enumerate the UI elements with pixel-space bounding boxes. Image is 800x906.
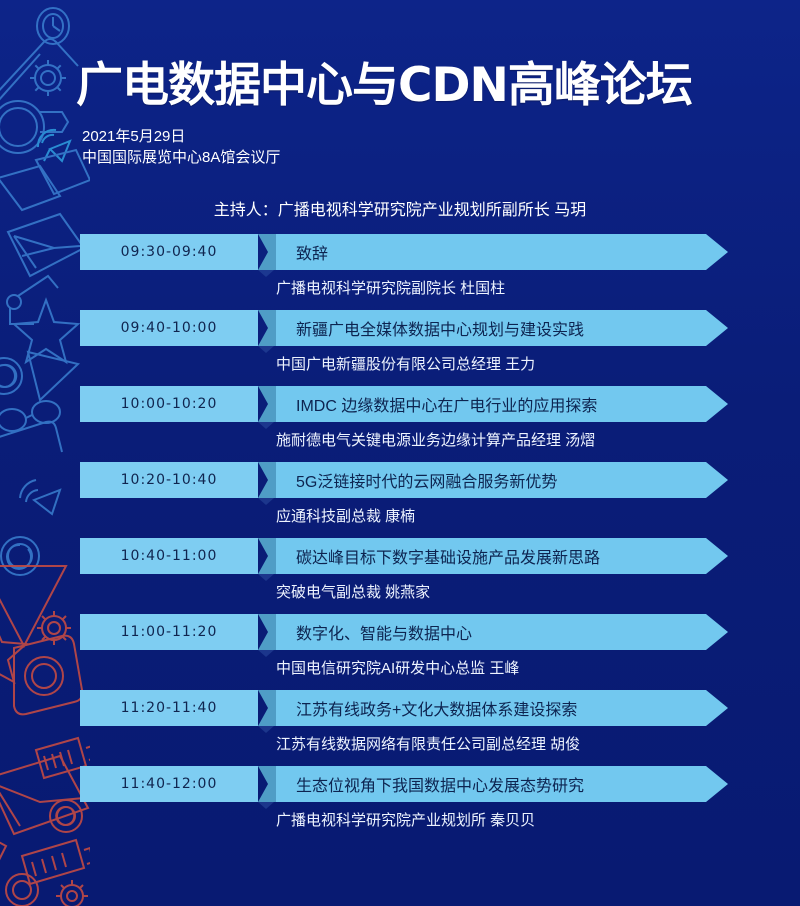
page-title: 广电数据中心与CDN高峰论坛 — [76, 58, 776, 114]
agenda-list: 09:30-09:40 致辞 广播电视科学研究院副院长 杜国柱 09:40-10… — [0, 234, 800, 842]
agenda-bar: 09:40-10:00 新疆广电全媒体数据中心规划与建设实践 — [80, 310, 728, 346]
agenda-time-chip: 11:40-12:00 — [80, 766, 258, 802]
agenda-bar: 10:40-11:00 碳达峰目标下数字基础设施产品发展新思路 — [80, 538, 728, 574]
agenda-time-chip: 10:00-10:20 — [80, 386, 258, 422]
agenda-bar: 11:40-12:00 生态位视角下我国数据中心发展态势研究 — [80, 766, 728, 802]
agenda-time: 11:40-12:00 — [121, 776, 218, 792]
agenda-topic: 数字化、智能与数据中心 — [276, 620, 472, 644]
agenda-row: 10:00-10:20 IMDC 边缘数据中心在广电行业的应用探索 施耐德电气关… — [0, 386, 800, 462]
agenda-topic: IMDC 边缘数据中心在广电行业的应用探索 — [276, 392, 597, 416]
event-datetime-block: 2021年5月29日 中国国际展览中心8A馆会议厅 — [82, 126, 280, 168]
agenda-row: 11:00-11:20 数字化、智能与数据中心 中国电信研究院AI研发中心总监 … — [0, 614, 800, 690]
agenda-topic: 碳达峰目标下数字基础设施产品发展新思路 — [276, 544, 600, 568]
agenda-speaker: 中国广电新疆股份有限公司总经理 王力 — [276, 353, 800, 374]
poster-header: 广电数据中心与CDN高峰论坛 2021年5月29日 中国国际展览中心8A馆会议厅… — [0, 0, 800, 228]
agenda-time: 11:00-11:20 — [121, 624, 218, 640]
ribbon-fold-shadow — [258, 422, 274, 429]
agenda-topic-banner: IMDC 边缘数据中心在广电行业的应用探索 — [276, 386, 728, 422]
agenda-time: 10:20-10:40 — [121, 472, 218, 488]
ribbon-fold-shadow — [258, 574, 274, 581]
agenda-row: 10:40-11:00 碳达峰目标下数字基础设施产品发展新思路 突破电气副总裁 … — [0, 538, 800, 614]
gear-icon-bottom — [56, 880, 88, 906]
spiral-icon-red — [6, 874, 38, 906]
agenda-topic-banner: 5G泛链接时代的云网融合服务新优势 — [276, 462, 728, 498]
agenda-time: 10:00-10:20 — [121, 396, 218, 412]
agenda-time-chip: 10:20-10:40 — [80, 462, 258, 498]
agenda-time: 09:30-09:40 — [121, 244, 218, 260]
agenda-topic-banner: 碳达峰目标下数字基础设施产品发展新思路 — [276, 538, 728, 574]
agenda-time-chip: 09:40-10:00 — [80, 310, 258, 346]
ribbon-fold-shadow — [258, 498, 274, 505]
agenda-time-chip: 11:00-11:20 — [80, 614, 258, 650]
agenda-bar: 10:20-10:40 5G泛链接时代的云网融合服务新优势 — [80, 462, 728, 498]
agenda-topic-banner: 数字化、智能与数据中心 — [276, 614, 728, 650]
agenda-bar: 10:00-10:20 IMDC 边缘数据中心在广电行业的应用探索 — [80, 386, 728, 422]
agenda-speaker: 中国电信研究院AI研发中心总监 王峰 — [276, 657, 800, 678]
agenda-row: 11:40-12:00 生态位视角下我国数据中心发展态势研究 广播电视科学研究院… — [0, 766, 800, 842]
agenda-bar: 11:00-11:20 数字化、智能与数据中心 — [80, 614, 728, 650]
agenda-topic: 生态位视角下我国数据中心发展态势研究 — [276, 772, 584, 796]
agenda-topic: 致辞 — [276, 240, 328, 264]
agenda-row: 09:30-09:40 致辞 广播电视科学研究院副院长 杜国柱 — [0, 234, 800, 310]
agenda-topic: 5G泛链接时代的云网融合服务新优势 — [276, 468, 557, 492]
agenda-time: 10:40-11:00 — [121, 548, 218, 564]
agenda-topic-banner: 致辞 — [276, 234, 728, 270]
forum-agenda-poster: 广电数据中心与CDN高峰论坛 2021年5月29日 中国国际展览中心8A馆会议厅… — [0, 0, 800, 906]
agenda-row: 09:40-10:00 新疆广电全媒体数据中心规划与建设实践 中国广电新疆股份有… — [0, 310, 800, 386]
agenda-speaker: 应通科技副总裁 康楠 — [276, 505, 800, 526]
agenda-speaker: 江苏有线数据网络有限责任公司副总经理 胡俊 — [276, 733, 800, 754]
ribbon-fold-shadow — [258, 726, 274, 733]
agenda-topic: 江苏有线政务+文化大数据体系建设探索 — [276, 696, 577, 720]
agenda-speaker: 广播电视科学研究院产业规划所 秦贝贝 — [276, 809, 800, 830]
event-host: 主持人：广播电视科学研究院产业规划所副所长 马玥 — [0, 196, 800, 220]
agenda-speaker: 施耐德电气关键电源业务边缘计算产品经理 汤熠 — [276, 429, 800, 450]
agenda-row: 11:20-11:40 江苏有线政务+文化大数据体系建设探索 江苏有线数据网络有… — [0, 690, 800, 766]
agenda-time-chip: 09:30-09:40 — [80, 234, 258, 270]
agenda-time: 09:40-10:00 — [121, 320, 218, 336]
agenda-topic-banner: 江苏有线政务+文化大数据体系建设探索 — [276, 690, 728, 726]
agenda-speaker: 突破电气副总裁 姚燕家 — [276, 581, 800, 602]
agenda-time: 11:20-11:40 — [121, 700, 218, 716]
agenda-time-chip: 11:20-11:40 — [80, 690, 258, 726]
agenda-topic-banner: 新疆广电全媒体数据中心规划与建设实践 — [276, 310, 728, 346]
agenda-topic-banner: 生态位视角下我国数据中心发展态势研究 — [276, 766, 728, 802]
agenda-row: 10:20-10:40 5G泛链接时代的云网融合服务新优势 应通科技副总裁 康楠 — [0, 462, 800, 538]
event-date: 2021年5月29日 — [82, 126, 280, 147]
agenda-bar: 11:20-11:40 江苏有线政务+文化大数据体系建设探索 — [80, 690, 728, 726]
ribbon-fold-shadow — [258, 802, 274, 809]
battery-icon-2 — [22, 840, 90, 884]
agenda-speaker: 广播电视科学研究院副院长 杜国柱 — [276, 277, 800, 298]
agenda-topic: 新疆广电全媒体数据中心规划与建设实践 — [276, 316, 584, 340]
agenda-bar: 09:30-09:40 致辞 — [80, 234, 728, 270]
ribbon-fold-shadow — [258, 270, 274, 277]
ribbon-fold-shadow — [258, 346, 274, 353]
ribbon-fold-shadow — [258, 650, 274, 657]
event-venue: 中国国际展览中心8A馆会议厅 — [82, 147, 280, 168]
agenda-time-chip: 10:40-11:00 — [80, 538, 258, 574]
